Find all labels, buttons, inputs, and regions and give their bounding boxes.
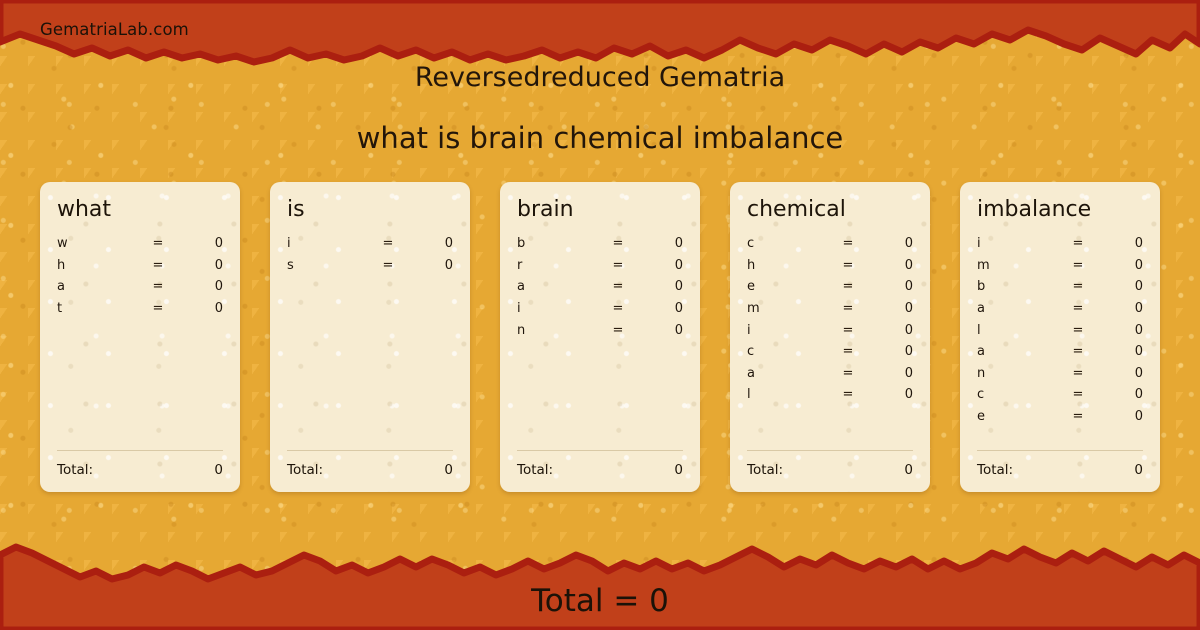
word-card-footer: Total:0: [57, 450, 223, 478]
letter-value-rows: i=0m=0b=0a=0l=0a=0n=0c=0e=0: [977, 236, 1143, 430]
equals-sign: =: [597, 258, 639, 273]
grand-total: Total = 0: [0, 583, 1200, 619]
letter-label: r: [517, 258, 597, 273]
letter-label: c: [977, 387, 1057, 402]
letter-value: 0: [1099, 258, 1143, 273]
letter-value-row: a=0: [747, 366, 913, 388]
letter-value: 0: [869, 323, 913, 338]
word-card-footer: Total:0: [517, 450, 683, 478]
word-card-title: brain: [517, 198, 683, 222]
letter-value: 0: [1099, 301, 1143, 316]
word-card-title: imbalance: [977, 198, 1143, 222]
letter-value-row: a=0: [517, 279, 683, 301]
letter-value-row: h=0: [747, 258, 913, 280]
letter-value-rows: c=0h=0e=0m=0i=0c=0a=0l=0: [747, 236, 913, 409]
equals-sign: =: [1057, 279, 1099, 294]
letter-value-rows: i=0s=0: [287, 236, 453, 279]
equals-sign: =: [827, 258, 869, 273]
word-card: isi=0s=0Total:0: [270, 182, 470, 492]
card-divider: [57, 450, 223, 451]
letter-value-row: c=0: [747, 344, 913, 366]
letter-value: 0: [639, 279, 683, 294]
letter-value: 0: [1099, 344, 1143, 359]
letter-label: a: [747, 366, 827, 381]
letter-value-row: n=0: [977, 366, 1143, 388]
card-total-row: Total:0: [977, 462, 1143, 478]
letter-value: 0: [869, 387, 913, 402]
letter-label: m: [747, 301, 827, 316]
equals-sign: =: [827, 366, 869, 381]
letter-value: 0: [179, 301, 223, 316]
letter-value-row: a=0: [977, 301, 1143, 323]
letter-label: w: [57, 236, 137, 251]
letter-value-row: c=0: [747, 236, 913, 258]
letter-value: 0: [1099, 236, 1143, 251]
letter-label: a: [57, 279, 137, 294]
letter-value-row: s=0: [287, 258, 453, 280]
letter-label: a: [517, 279, 597, 294]
card-total-row: Total:0: [747, 462, 913, 478]
card-total-label: Total:: [57, 462, 93, 478]
letter-label: h: [747, 258, 827, 273]
card-total-value: 0: [904, 462, 913, 478]
letter-label: e: [977, 409, 1057, 424]
letter-value: 0: [869, 279, 913, 294]
letter-value-row: i=0: [517, 301, 683, 323]
letter-value: 0: [1099, 279, 1143, 294]
card-total-row: Total:0: [517, 462, 683, 478]
letter-value-row: e=0: [977, 409, 1143, 431]
equals-sign: =: [827, 323, 869, 338]
letter-value: 0: [639, 258, 683, 273]
letter-label: n: [977, 366, 1057, 381]
equals-sign: =: [137, 279, 179, 294]
equals-sign: =: [137, 236, 179, 251]
letter-label: m: [977, 258, 1057, 273]
page-title: Reversedreduced Gematria: [0, 62, 1200, 93]
letter-label: b: [517, 236, 597, 251]
card-total-value: 0: [1134, 462, 1143, 478]
letter-value-row: e=0: [747, 279, 913, 301]
letter-value: 0: [409, 236, 453, 251]
letter-label: t: [57, 301, 137, 316]
word-card-footer: Total:0: [287, 450, 453, 478]
letter-value-row: i=0: [977, 236, 1143, 258]
equals-sign: =: [367, 258, 409, 273]
letter-value: 0: [869, 236, 913, 251]
letter-value-rows: b=0r=0a=0i=0n=0: [517, 236, 683, 344]
letter-value: 0: [869, 258, 913, 273]
equals-sign: =: [827, 236, 869, 251]
word-card: chemicalc=0h=0e=0m=0i=0c=0a=0l=0Total:0: [730, 182, 930, 492]
word-card-title: what: [57, 198, 223, 222]
letter-value: 0: [639, 236, 683, 251]
word-card: whatw=0h=0a=0t=0Total:0: [40, 182, 240, 492]
letter-label: c: [747, 344, 827, 359]
letter-value-row: l=0: [977, 323, 1143, 345]
equals-sign: =: [1057, 409, 1099, 424]
letter-label: n: [517, 323, 597, 338]
letter-label: h: [57, 258, 137, 273]
letter-value: 0: [869, 301, 913, 316]
site-brand[interactable]: GematriaLab.com: [40, 20, 189, 39]
equals-sign: =: [827, 387, 869, 402]
equals-sign: =: [827, 344, 869, 359]
equals-sign: =: [1057, 387, 1099, 402]
letter-value: 0: [1099, 366, 1143, 381]
card-total-label: Total:: [287, 462, 323, 478]
letter-value-row: l=0: [747, 387, 913, 409]
card-divider: [977, 450, 1143, 451]
equals-sign: =: [1057, 344, 1099, 359]
letter-value: 0: [179, 279, 223, 294]
letter-label: e: [747, 279, 827, 294]
letter-label: l: [977, 323, 1057, 338]
letter-value: 0: [179, 236, 223, 251]
letter-label: i: [287, 236, 367, 251]
letter-value: 0: [409, 258, 453, 273]
card-total-row: Total:0: [57, 462, 223, 478]
letter-value-row: h=0: [57, 258, 223, 280]
letter-label: c: [747, 236, 827, 251]
word-card-footer: Total:0: [747, 450, 913, 478]
page-subtitle: what is brain chemical imbalance: [0, 121, 1200, 155]
card-total-label: Total:: [517, 462, 553, 478]
letter-label: i: [517, 301, 597, 316]
letter-label: a: [977, 301, 1057, 316]
letter-label: s: [287, 258, 367, 273]
word-card-footer: Total:0: [977, 450, 1143, 478]
letter-value-row: m=0: [977, 258, 1143, 280]
card-total-value: 0: [674, 462, 683, 478]
letter-value-rows: w=0h=0a=0t=0: [57, 236, 223, 322]
letter-value-row: b=0: [517, 236, 683, 258]
letter-value: 0: [1099, 323, 1143, 338]
letter-value-row: a=0: [57, 279, 223, 301]
card-divider: [287, 450, 453, 451]
equals-sign: =: [597, 236, 639, 251]
letter-label: l: [747, 387, 827, 402]
equals-sign: =: [1057, 236, 1099, 251]
letter-value: 0: [179, 258, 223, 273]
equals-sign: =: [1057, 366, 1099, 381]
letter-value: 0: [869, 344, 913, 359]
equals-sign: =: [1057, 301, 1099, 316]
equals-sign: =: [137, 301, 179, 316]
equals-sign: =: [597, 323, 639, 338]
card-divider: [747, 450, 913, 451]
equals-sign: =: [1057, 323, 1099, 338]
word-card: brainb=0r=0a=0i=0n=0Total:0: [500, 182, 700, 492]
equals-sign: =: [137, 258, 179, 273]
letter-value-row: w=0: [57, 236, 223, 258]
word-card-list: whatw=0h=0a=0t=0Total:0isi=0s=0Total:0br…: [40, 182, 1160, 492]
letter-value-row: b=0: [977, 279, 1143, 301]
letter-value-row: r=0: [517, 258, 683, 280]
letter-value: 0: [869, 366, 913, 381]
letter-value-row: a=0: [977, 344, 1143, 366]
equals-sign: =: [597, 301, 639, 316]
card-total-value: 0: [214, 462, 223, 478]
letter-value: 0: [639, 301, 683, 316]
letter-label: a: [977, 344, 1057, 359]
letter-value-row: i=0: [747, 323, 913, 345]
letter-label: i: [747, 323, 827, 338]
letter-label: i: [977, 236, 1057, 251]
equals-sign: =: [1057, 258, 1099, 273]
equals-sign: =: [367, 236, 409, 251]
letter-value: 0: [639, 323, 683, 338]
word-card: imbalancei=0m=0b=0a=0l=0a=0n=0c=0e=0Tota…: [960, 182, 1160, 492]
letter-value-row: n=0: [517, 323, 683, 345]
letter-value: 0: [1099, 409, 1143, 424]
equals-sign: =: [827, 301, 869, 316]
card-divider: [517, 450, 683, 451]
card-total-row: Total:0: [287, 462, 453, 478]
word-card-title: is: [287, 198, 453, 222]
card-total-label: Total:: [977, 462, 1013, 478]
letter-value-row: c=0: [977, 387, 1143, 409]
word-card-title: chemical: [747, 198, 913, 222]
letter-value: 0: [1099, 387, 1143, 402]
letter-label: b: [977, 279, 1057, 294]
equals-sign: =: [597, 279, 639, 294]
letter-value-row: i=0: [287, 236, 453, 258]
letter-value-row: t=0: [57, 301, 223, 323]
equals-sign: =: [827, 279, 869, 294]
card-total-label: Total:: [747, 462, 783, 478]
letter-value-row: m=0: [747, 301, 913, 323]
card-total-value: 0: [444, 462, 453, 478]
